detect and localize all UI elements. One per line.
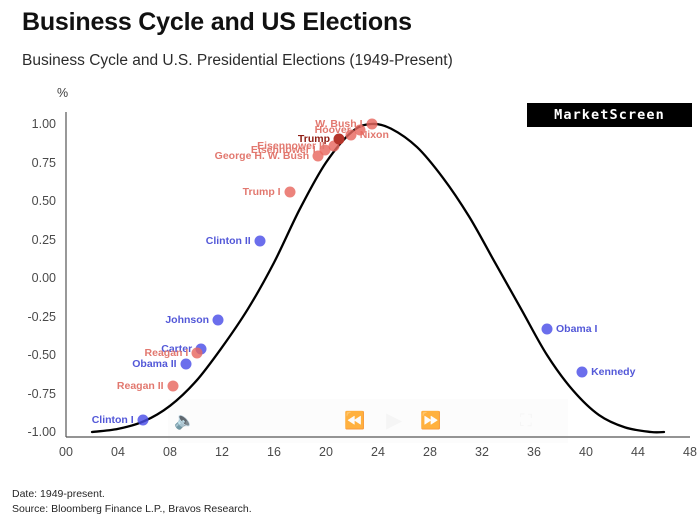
data-point-label: George H. W. Bush <box>215 150 310 162</box>
y-axis-tick: -0.25 <box>10 310 56 324</box>
data-point-label: Nixon <box>360 129 389 141</box>
x-axis-tick: 36 <box>514 445 554 459</box>
data-point <box>345 129 356 140</box>
data-point <box>213 314 224 325</box>
footer-source: Source: Bloomberg Finance L.P., Bravos R… <box>12 502 252 517</box>
x-axis-tick: 00 <box>46 445 86 459</box>
y-axis-tick: 0.25 <box>10 233 56 247</box>
y-axis-tick: 0.50 <box>10 194 56 208</box>
data-point-label: Obama I <box>556 323 597 335</box>
data-point <box>366 119 377 130</box>
data-point <box>328 140 339 151</box>
x-axis-tick: 44 <box>618 445 658 459</box>
footer-notes: Date: 1949-present. Source: Bloomberg Fi… <box>12 487 252 517</box>
data-point-label: Reagan II <box>117 380 164 392</box>
x-axis-tick: 48 <box>670 445 700 459</box>
x-axis-tick: 08 <box>150 445 190 459</box>
data-point-label: Clinton II <box>206 235 251 247</box>
data-point <box>334 134 345 145</box>
y-axis-tick: 1.00 <box>10 117 56 131</box>
data-point-label: Clinton I <box>92 414 134 426</box>
y-axis-unit-label: % <box>57 86 68 100</box>
x-axis-tick: 16 <box>254 445 294 459</box>
data-point-label: Kennedy <box>591 366 635 378</box>
data-point <box>319 145 330 156</box>
data-point <box>542 323 553 334</box>
data-point-label: Eisennower I <box>251 144 316 156</box>
data-point <box>167 380 178 391</box>
data-point <box>180 359 191 370</box>
x-axis-tick: 04 <box>98 445 138 459</box>
business-cycle-curve <box>92 124 664 432</box>
page-title: Business Cycle and US Elections <box>22 8 412 37</box>
data-point <box>284 186 295 197</box>
data-point-label: Obama II <box>132 358 176 370</box>
y-axis-tick: 0.75 <box>10 156 56 170</box>
marketscreen-logo: MarketScreen <box>527 103 692 127</box>
data-point-label: Carter <box>161 343 192 355</box>
footer-date: Date: 1949-present. <box>12 487 252 502</box>
data-point-label: W. Bush I <box>315 118 362 130</box>
y-axis-tick: -0.75 <box>10 387 56 401</box>
play-icon: ▶ <box>386 410 402 431</box>
volume-icon: 🔈 <box>174 412 195 429</box>
player-watermark: 🔈 ⏪ ▶ ⏩ ⛶ <box>168 399 568 443</box>
chart-subtitle: Business Cycle and U.S. Presidential Ele… <box>22 52 453 70</box>
picture-in-picture-icon: ⛶ <box>520 412 532 429</box>
data-point-label: Trump I <box>243 186 281 198</box>
x-axis-tick: 20 <box>306 445 346 459</box>
data-point-label: Reagan I <box>145 347 189 359</box>
data-point <box>313 151 324 162</box>
data-point-label: Hoover <box>315 124 351 136</box>
chart-page: Business Cycle and US Elections Business… <box>0 0 700 519</box>
y-axis-tick: 0.00 <box>10 271 56 285</box>
fast-forward-icon: ⏩ <box>420 412 441 429</box>
y-axis-tick: -1.00 <box>10 425 56 439</box>
x-axis-tick: 28 <box>410 445 450 459</box>
data-point-label: Trump <box>298 133 330 145</box>
data-point <box>354 125 365 136</box>
x-axis-tick: 32 <box>462 445 502 459</box>
data-point <box>196 343 207 354</box>
x-axis-tick: 40 <box>566 445 606 459</box>
chart-axes <box>66 112 690 437</box>
data-point-label: Eisennower II <box>257 140 325 152</box>
data-point <box>137 414 148 425</box>
data-point <box>254 236 265 247</box>
data-point <box>577 366 588 377</box>
x-axis-tick: 24 <box>358 445 398 459</box>
x-axis-tick: 12 <box>202 445 242 459</box>
data-point-label: Johnson <box>165 314 209 326</box>
rewind-icon: ⏪ <box>344 412 365 429</box>
y-axis-tick: -0.50 <box>10 348 56 362</box>
data-point <box>192 348 203 359</box>
